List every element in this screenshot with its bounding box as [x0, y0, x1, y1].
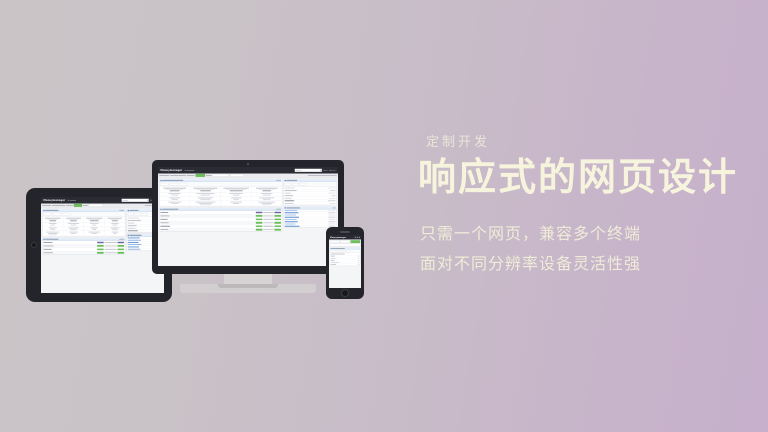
status-badge [256, 225, 263, 227]
phone-home-button[interactable] [341, 289, 349, 297]
status-badge [256, 218, 263, 220]
search-input[interactable] [295, 169, 323, 173]
summary-grid [43, 217, 126, 222]
status-badge [118, 245, 125, 247]
tab-item[interactable] [62, 213, 70, 216]
speaker-icon [340, 231, 350, 233]
promo-banner: Moneymanager [0, 0, 768, 432]
phone-screen: Moneymanager [329, 235, 361, 288]
tab-item[interactable] [135, 213, 141, 216]
status-badge [97, 242, 104, 244]
panel-mobile [330, 247, 361, 266]
monitor-stand-lip [218, 284, 278, 288]
nav-button-apps[interactable] [324, 170, 328, 171]
tab-item[interactable] [331, 250, 337, 252]
status-badge [97, 252, 104, 254]
mobile-filter-field[interactable] [330, 244, 361, 247]
summary-grid [160, 187, 283, 192]
monitor-screen: Moneymanager [158, 167, 338, 266]
subtitle-line-2: 面对不同分辨率设备灵活性强 [420, 256, 758, 272]
status-badge [256, 215, 263, 217]
toolbar-filter-field[interactable] [89, 204, 103, 207]
toolbar-primary-button[interactable] [74, 204, 82, 207]
monitor-stand-neck [224, 274, 272, 284]
status-badge [118, 242, 125, 244]
tablet-bezel: Moneymanager [26, 188, 172, 302]
mobile-button[interactable] [340, 240, 350, 243]
search-input[interactable] [121, 199, 149, 203]
status-badge [118, 252, 125, 254]
tab-item[interactable] [344, 250, 350, 252]
status-badge [118, 248, 125, 250]
subtitle-line-1: 只需一个网页，兼容多个终端 [420, 226, 758, 242]
device-tablet: Moneymanager [26, 188, 172, 302]
tab-item[interactable] [142, 213, 148, 216]
tab-item[interactable] [53, 213, 61, 216]
status-badge [275, 218, 282, 220]
status-badge [275, 229, 282, 231]
monitor-bezel: Moneymanager [152, 160, 344, 274]
tab-item[interactable] [300, 183, 307, 186]
nav-item-dashboard[interactable] [185, 170, 195, 171]
app-brand: Moneymanager [160, 169, 182, 172]
app-brand: Moneymanager [330, 236, 346, 238]
status-badge [256, 212, 263, 214]
tab-item[interactable] [285, 183, 292, 186]
search-icon [147, 200, 148, 201]
tab-item[interactable] [292, 183, 299, 186]
page-title: 响应式的网页设计 [418, 155, 758, 200]
tablet-dashboard: Moneymanager [41, 197, 164, 293]
status-badge [275, 225, 282, 227]
search-icon [320, 170, 321, 171]
mobile-button[interactable] [330, 240, 340, 243]
status-badge [275, 212, 282, 214]
promo-copy: 定制开发 响应式的网页设计 只需一个网页，兼容多个终端 面对不同分辨率设备灵活性… [418, 136, 758, 286]
desktop-dashboard: Moneymanager [158, 167, 338, 266]
nav-item-dashboard[interactable] [68, 200, 76, 201]
tab-item[interactable] [128, 213, 134, 216]
tablet-home-button[interactable] [31, 242, 37, 248]
device-desktop-monitor: Moneymanager [152, 160, 344, 302]
webcam-icon [247, 163, 249, 165]
panel-links [284, 206, 337, 228]
panel-status-list [42, 238, 125, 255]
toolbar-primary-button[interactable] [196, 174, 206, 177]
status-badge [275, 215, 282, 217]
phone-bezel: Moneymanager [326, 227, 364, 299]
device-smartphone: Moneymanager [326, 227, 364, 299]
tab-item[interactable] [160, 183, 168, 186]
app-brand: Moneymanager [43, 199, 65, 202]
tab-item[interactable] [43, 213, 51, 216]
toolbar-search-field[interactable] [230, 174, 244, 177]
mobile-primary-button[interactable] [351, 240, 361, 243]
status-badge [256, 222, 263, 224]
tab-item[interactable] [337, 250, 343, 252]
tab-item[interactable] [170, 183, 178, 186]
status-badge [275, 222, 282, 224]
eyebrow-label: 定制开发 [426, 136, 758, 149]
status-badge [256, 229, 263, 231]
status-badge [97, 248, 104, 250]
toolbar-filter-field[interactable] [212, 174, 229, 177]
status-badge [97, 245, 104, 247]
tab-item[interactable] [179, 183, 187, 186]
panel-summary [159, 179, 282, 207]
panel-detail [284, 179, 337, 205]
user-icon[interactable] [359, 237, 360, 238]
panel-status-list [159, 208, 282, 232]
mobile-dashboard: Moneymanager [329, 235, 361, 288]
panel-summary [42, 209, 125, 237]
nav-button-account[interactable] [329, 170, 335, 171]
tablet-screen: Moneymanager [41, 197, 164, 293]
